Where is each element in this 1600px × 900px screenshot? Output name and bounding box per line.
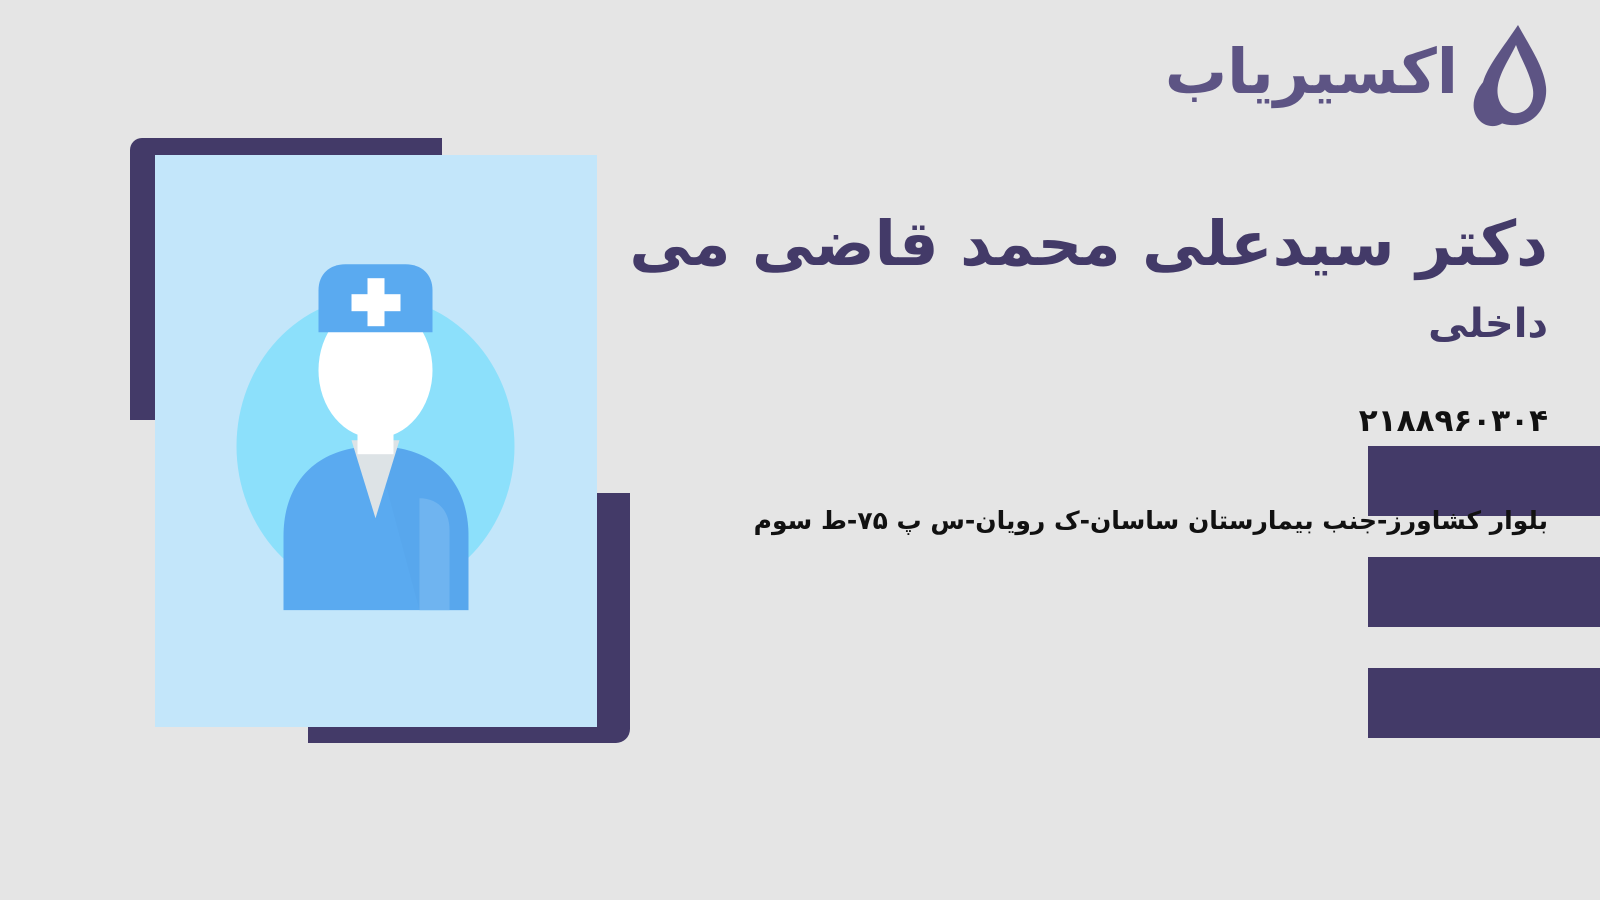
- doctor-name: دکتر سیدعلی محمد قاضی می: [488, 208, 1548, 280]
- doctor-profile-card: اکسیریاب دکتر سیدعلی محمد قاضی می داخلی …: [0, 0, 1600, 900]
- flame-droplet-icon: [1462, 23, 1558, 127]
- doctor-photo-card: [155, 155, 597, 727]
- doctor-illustration: [130, 138, 630, 748]
- decorative-bar-3: [1368, 668, 1600, 738]
- doctor-phone[interactable]: ۲۱۸۸۹۶۰۳۰۴: [488, 404, 1548, 438]
- brand-logo[interactable]: اکسیریاب: [1165, 20, 1558, 130]
- decorative-bar-2: [1368, 557, 1600, 627]
- brand-name: اکسیریاب: [1165, 41, 1458, 103]
- doctor-address: بلوار کشاورز-جنب بیمارستان ساسان-ک رویان…: [488, 506, 1548, 536]
- doctor-specialty: داخلی: [488, 302, 1548, 346]
- doctor-info: دکتر سیدعلی محمد قاضی می داخلی ۲۱۸۸۹۶۰۳۰…: [488, 208, 1548, 536]
- doctor-avatar-icon: [224, 250, 529, 610]
